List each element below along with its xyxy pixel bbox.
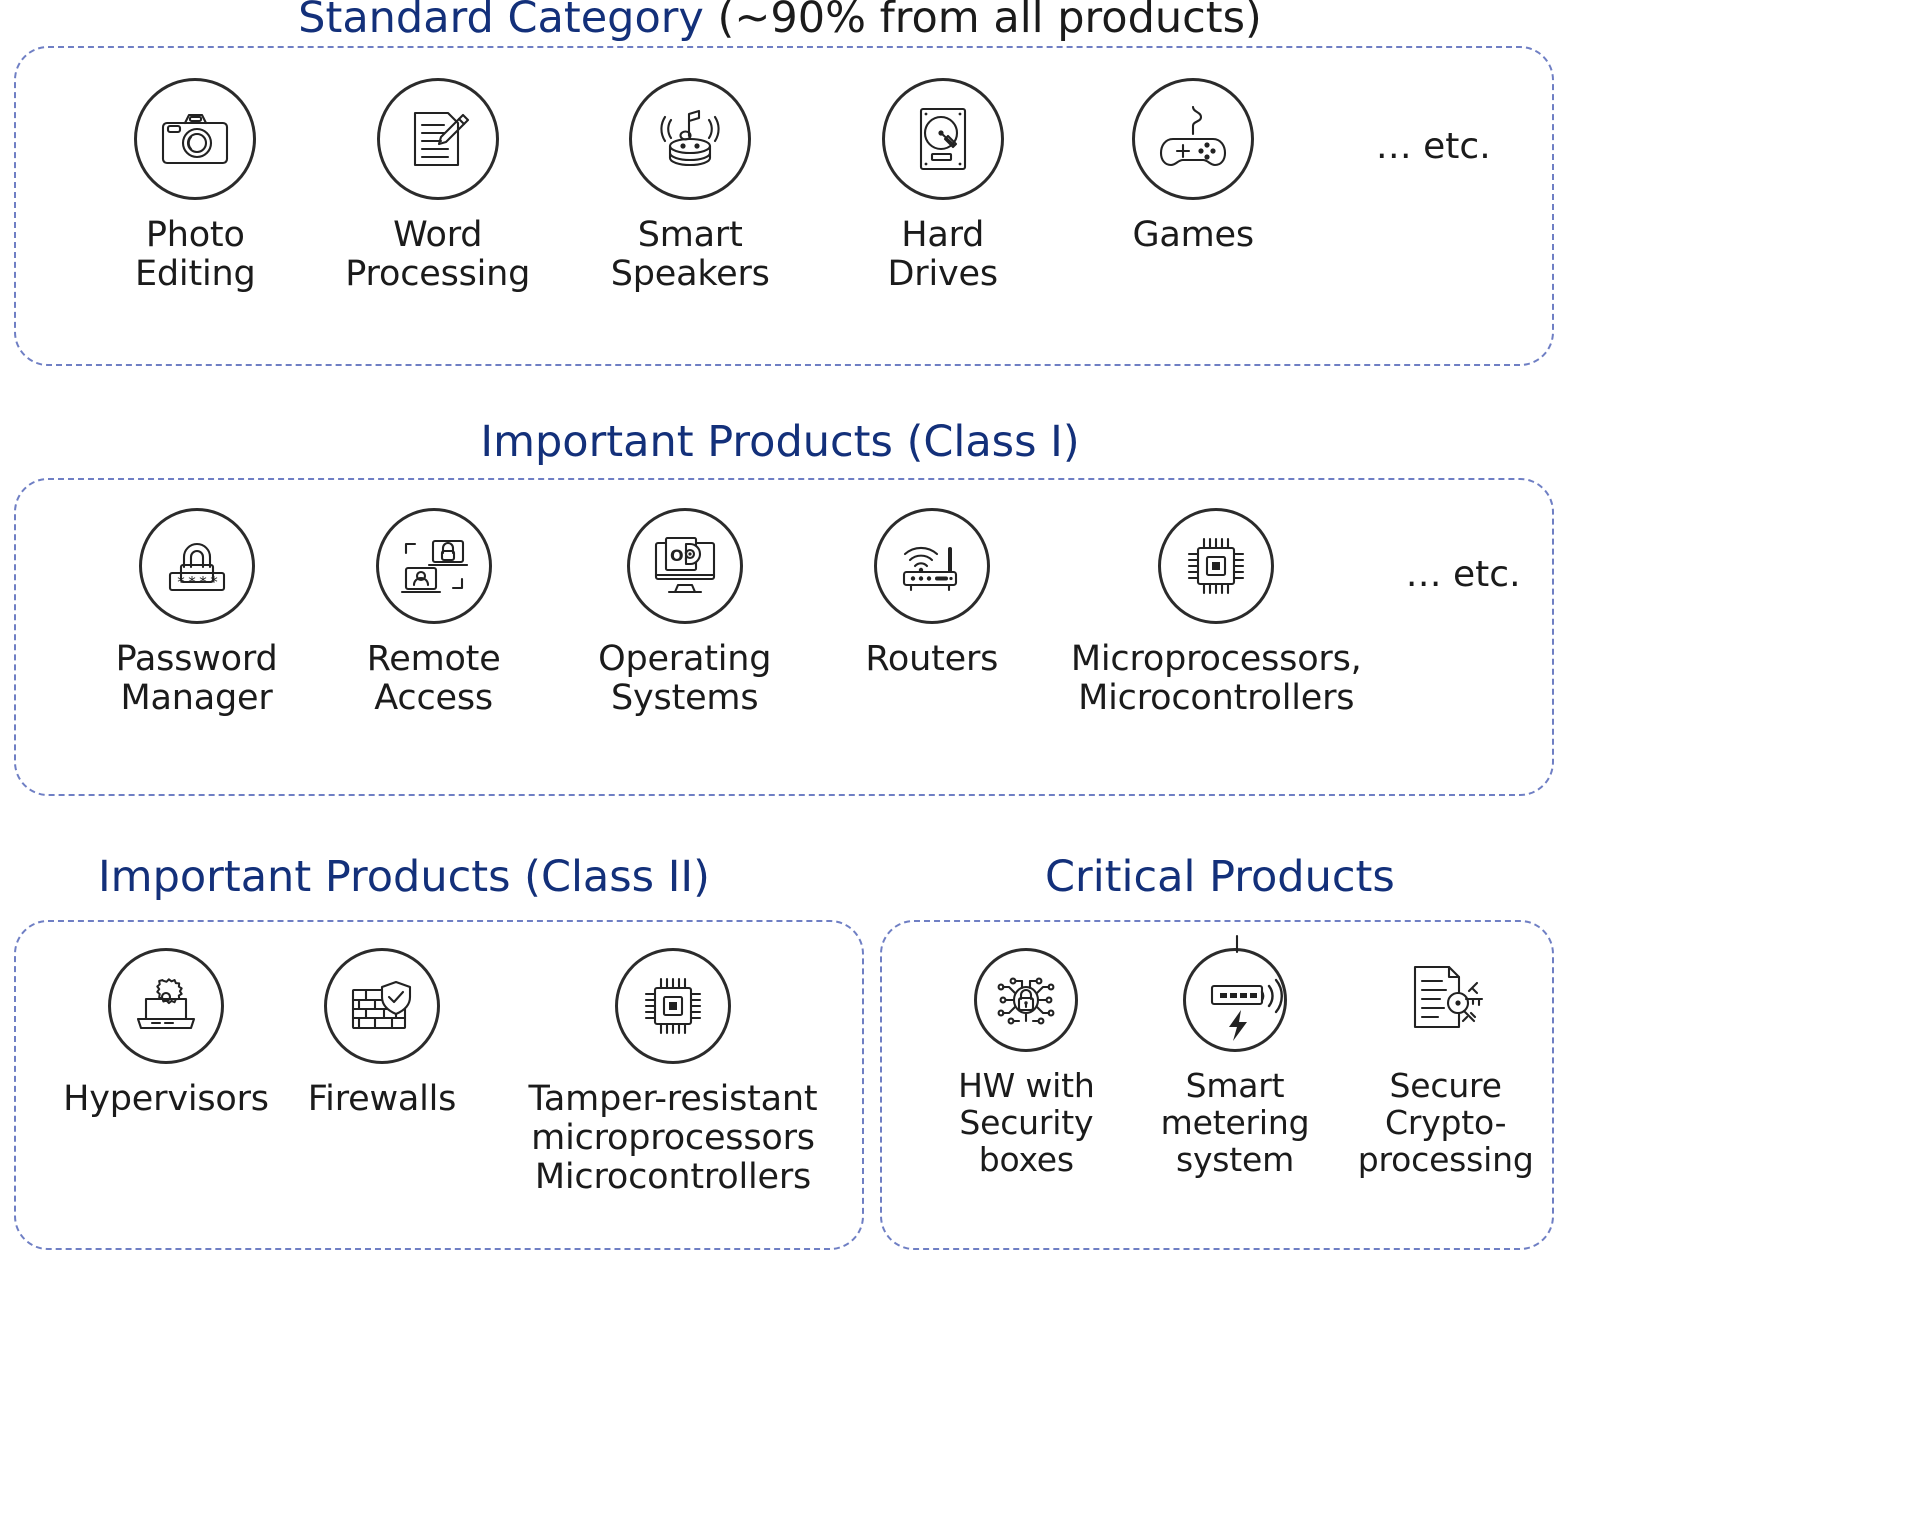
microchip-icon bbox=[642, 975, 704, 1037]
item-routers[interactable]: Routers bbox=[813, 508, 1050, 679]
operating-system-icon: OS bbox=[652, 535, 718, 597]
hw-security-boxes-circle bbox=[974, 948, 1078, 1052]
item-label: Operating Systems bbox=[598, 640, 771, 718]
firewalls-circle bbox=[324, 948, 440, 1064]
camera-icon bbox=[160, 108, 230, 170]
hard-drive-icon bbox=[917, 106, 969, 172]
standard-category-items: Photo Editing Word Processing bbox=[16, 48, 1552, 364]
standard-etc: … etc. bbox=[1314, 78, 1552, 167]
item-label: Photo Editing bbox=[135, 216, 256, 294]
router-icon bbox=[898, 537, 966, 595]
item-label: Smart metering system bbox=[1161, 1068, 1310, 1179]
laptop-gear-icon bbox=[135, 977, 197, 1035]
item-label: Secure Crypto- processing bbox=[1358, 1068, 1534, 1179]
critical-box: HW with Security boxes bbox=[880, 920, 1554, 1250]
circuit-lock-icon bbox=[997, 971, 1055, 1029]
microchip-icon bbox=[1185, 535, 1247, 597]
operating-systems-circle: OS bbox=[627, 508, 743, 624]
class1-title-main: Important Products (Class I) bbox=[480, 417, 1079, 467]
hypervisors-circle bbox=[108, 948, 224, 1064]
smart-speakers-circle bbox=[629, 78, 751, 200]
word-processing-circle bbox=[377, 78, 499, 200]
microprocessors-circle bbox=[1158, 508, 1274, 624]
item-label: Routers bbox=[865, 640, 998, 679]
secure-crypto-circle bbox=[1394, 948, 1498, 1052]
item-label: Hypervisors bbox=[63, 1080, 269, 1119]
smart-meter-icon bbox=[1185, 950, 1289, 1054]
standard-category-title-main: Standard Category bbox=[298, 0, 704, 43]
remote-access-circle bbox=[376, 508, 492, 624]
class1-box: ** ** Password Manager bbox=[14, 478, 1554, 796]
remote-access-icon bbox=[400, 535, 468, 597]
item-hard-drives[interactable]: Hard Drives bbox=[821, 78, 1063, 294]
class2-title-main: Important Products (Class II) bbox=[98, 852, 710, 902]
svg-text:*: * bbox=[199, 573, 207, 591]
item-operating-systems[interactable]: OS Operating Systems bbox=[566, 508, 803, 718]
games-circle bbox=[1132, 78, 1254, 200]
item-label: Smart Speakers bbox=[611, 216, 770, 294]
item-label: Microprocessors, Microcontrollers bbox=[1071, 640, 1362, 718]
firewall-shield-icon bbox=[350, 978, 414, 1034]
item-label: HW with Security boxes bbox=[958, 1068, 1095, 1179]
password-lock-icon: ** ** bbox=[164, 535, 230, 597]
svg-text:*: * bbox=[188, 573, 196, 591]
class1-items: ** ** Password Manager bbox=[16, 480, 1552, 794]
item-password-manager[interactable]: ** ** Password Manager bbox=[78, 508, 315, 718]
gamepad-icon bbox=[1157, 106, 1229, 172]
class1-etc: … etc. bbox=[1374, 508, 1552, 595]
svg-text:*: * bbox=[210, 573, 218, 591]
etc-label: … etc. bbox=[1406, 554, 1521, 595]
item-smart-metering[interactable]: Smart metering system bbox=[1131, 948, 1340, 1179]
standard-category-title-sub: (~90% from all products) bbox=[704, 0, 1262, 43]
item-label: Games bbox=[1132, 216, 1253, 255]
item-label: Firewalls bbox=[308, 1080, 456, 1119]
item-smart-speakers[interactable]: Smart Speakers bbox=[569, 78, 811, 294]
item-tamper-resistant-microprocessors[interactable]: Tamper-resistant microprocessors Microco… bbox=[488, 948, 858, 1198]
document-key-icon bbox=[1407, 963, 1485, 1037]
item-secure-crypto-processing[interactable]: Secure Crypto- processing bbox=[1339, 948, 1552, 1179]
item-label: Password Manager bbox=[116, 640, 278, 718]
hard-drives-circle bbox=[882, 78, 1004, 200]
item-label: Tamper-resistant microprocessors Microco… bbox=[529, 1080, 818, 1198]
item-hw-security-boxes[interactable]: HW with Security boxes bbox=[922, 948, 1131, 1179]
routers-circle bbox=[874, 508, 990, 624]
standard-category-title: Standard Category (~90% from all product… bbox=[0, 0, 1560, 41]
smart-speaker-icon bbox=[653, 106, 727, 172]
class2-items: Hypervisors Firewalls bbox=[16, 922, 862, 1248]
etc-label: … etc. bbox=[1376, 126, 1491, 167]
item-label: Hard Drives bbox=[888, 216, 998, 294]
class2-box: Hypervisors Firewalls bbox=[14, 920, 864, 1250]
smart-metering-circle bbox=[1183, 948, 1287, 1052]
item-hypervisors[interactable]: Hypervisors bbox=[58, 948, 274, 1119]
item-label: Word Processing bbox=[345, 216, 530, 294]
item-remote-access[interactable]: Remote Access bbox=[315, 508, 552, 718]
svg-text:*: * bbox=[177, 573, 185, 591]
class2-title: Important Products (Class II) bbox=[98, 855, 710, 900]
item-photo-editing[interactable]: Photo Editing bbox=[74, 78, 316, 294]
critical-title: Critical Products bbox=[1045, 855, 1395, 900]
critical-items: HW with Security boxes bbox=[882, 922, 1552, 1248]
document-pencil-icon bbox=[405, 107, 471, 171]
photo-editing-circle bbox=[134, 78, 256, 200]
item-games[interactable]: Games bbox=[1072, 78, 1314, 255]
item-word-processing[interactable]: Word Processing bbox=[316, 78, 558, 294]
tamper-resistant-circle bbox=[615, 948, 731, 1064]
critical-title-main: Critical Products bbox=[1045, 852, 1395, 902]
product-category-diagram: Standard Category (~90% from all product… bbox=[0, 0, 1920, 1536]
item-microprocessors[interactable]: Microprocessors, Microcontrollers bbox=[1048, 508, 1384, 718]
class1-title: Important Products (Class I) bbox=[0, 420, 1560, 465]
standard-category-box: Photo Editing Word Processing bbox=[14, 46, 1554, 366]
item-label: Remote Access bbox=[367, 640, 501, 718]
item-firewalls[interactable]: Firewalls bbox=[274, 948, 490, 1119]
password-manager-circle: ** ** bbox=[139, 508, 255, 624]
